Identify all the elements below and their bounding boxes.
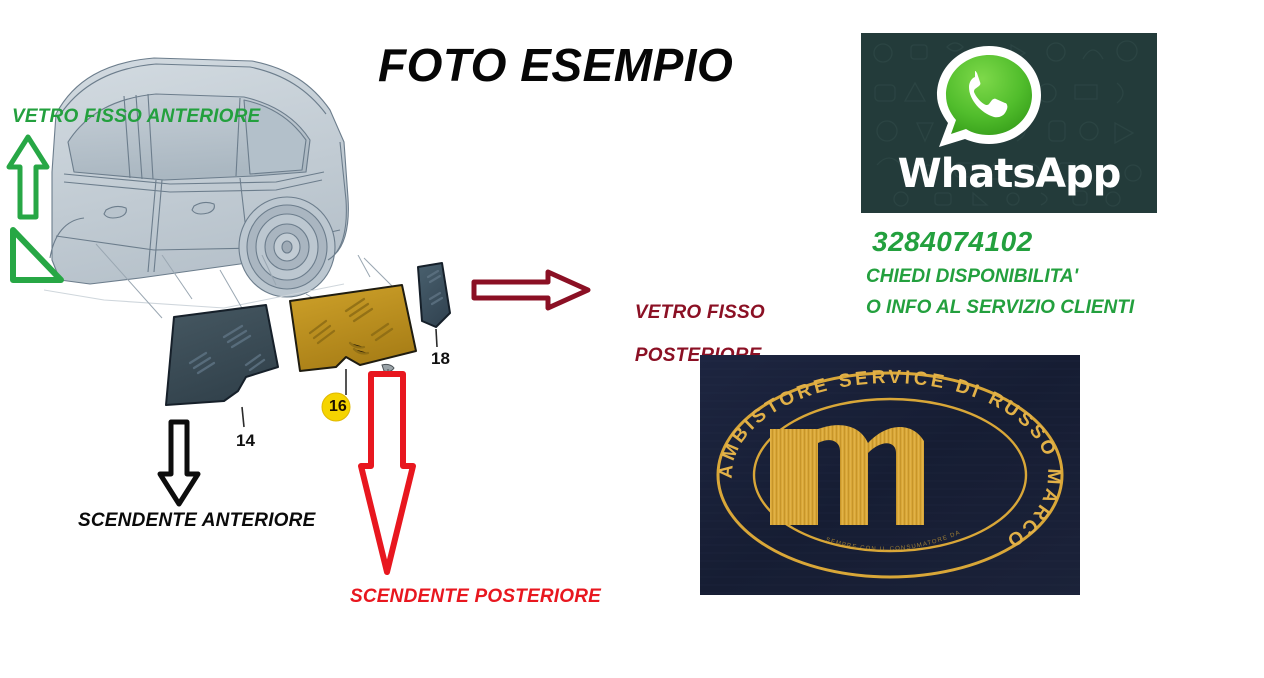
part-label-14: 14 — [236, 431, 255, 451]
right-arrow-dark-red-icon — [470, 268, 592, 312]
down-arrow-black-icon — [157, 418, 201, 508]
phone-number[interactable]: 3284074102 — [872, 226, 1033, 258]
page-title: FOTO ESEMPIO — [378, 38, 733, 92]
whatsapp-phone-bubble-icon — [933, 43, 1045, 155]
part-label-16: 16 — [329, 398, 347, 416]
customer-service-text: O INFO AL SERVIZIO CLIENTI — [866, 297, 1134, 319]
whatsapp-banner[interactable]: WhatsApp — [861, 33, 1157, 213]
down-arrow-red-icon — [355, 370, 419, 578]
label-vfp-line1: VETRO FISSO — [635, 302, 765, 323]
whatsapp-wordmark: WhatsApp — [861, 151, 1157, 197]
availability-text: CHIEDI DISPONIBILITA' — [866, 266, 1078, 288]
label-vetro-fisso-anteriore: VETRO FISSO ANTERIORE — [12, 106, 260, 127]
up-arrow-green-icon — [6, 134, 50, 220]
label-scendente-anteriore: SCENDENTE ANTERIORE — [78, 510, 315, 531]
label-scendente-posteriore: SCENDENTE POSTERIORE — [350, 586, 601, 607]
part-label-18: 18 — [431, 349, 450, 369]
triangle-green-icon — [8, 225, 66, 287]
shop-logo-image: MRICAMBISTORE SERVICE DI RUSSO MARCO SEM… — [700, 355, 1080, 595]
poster-canvas: 14 16 17 18 FOTO ESEMPIO VETRO FISSO ANT… — [0, 0, 1264, 678]
shop-logo-monogram — [770, 425, 924, 525]
